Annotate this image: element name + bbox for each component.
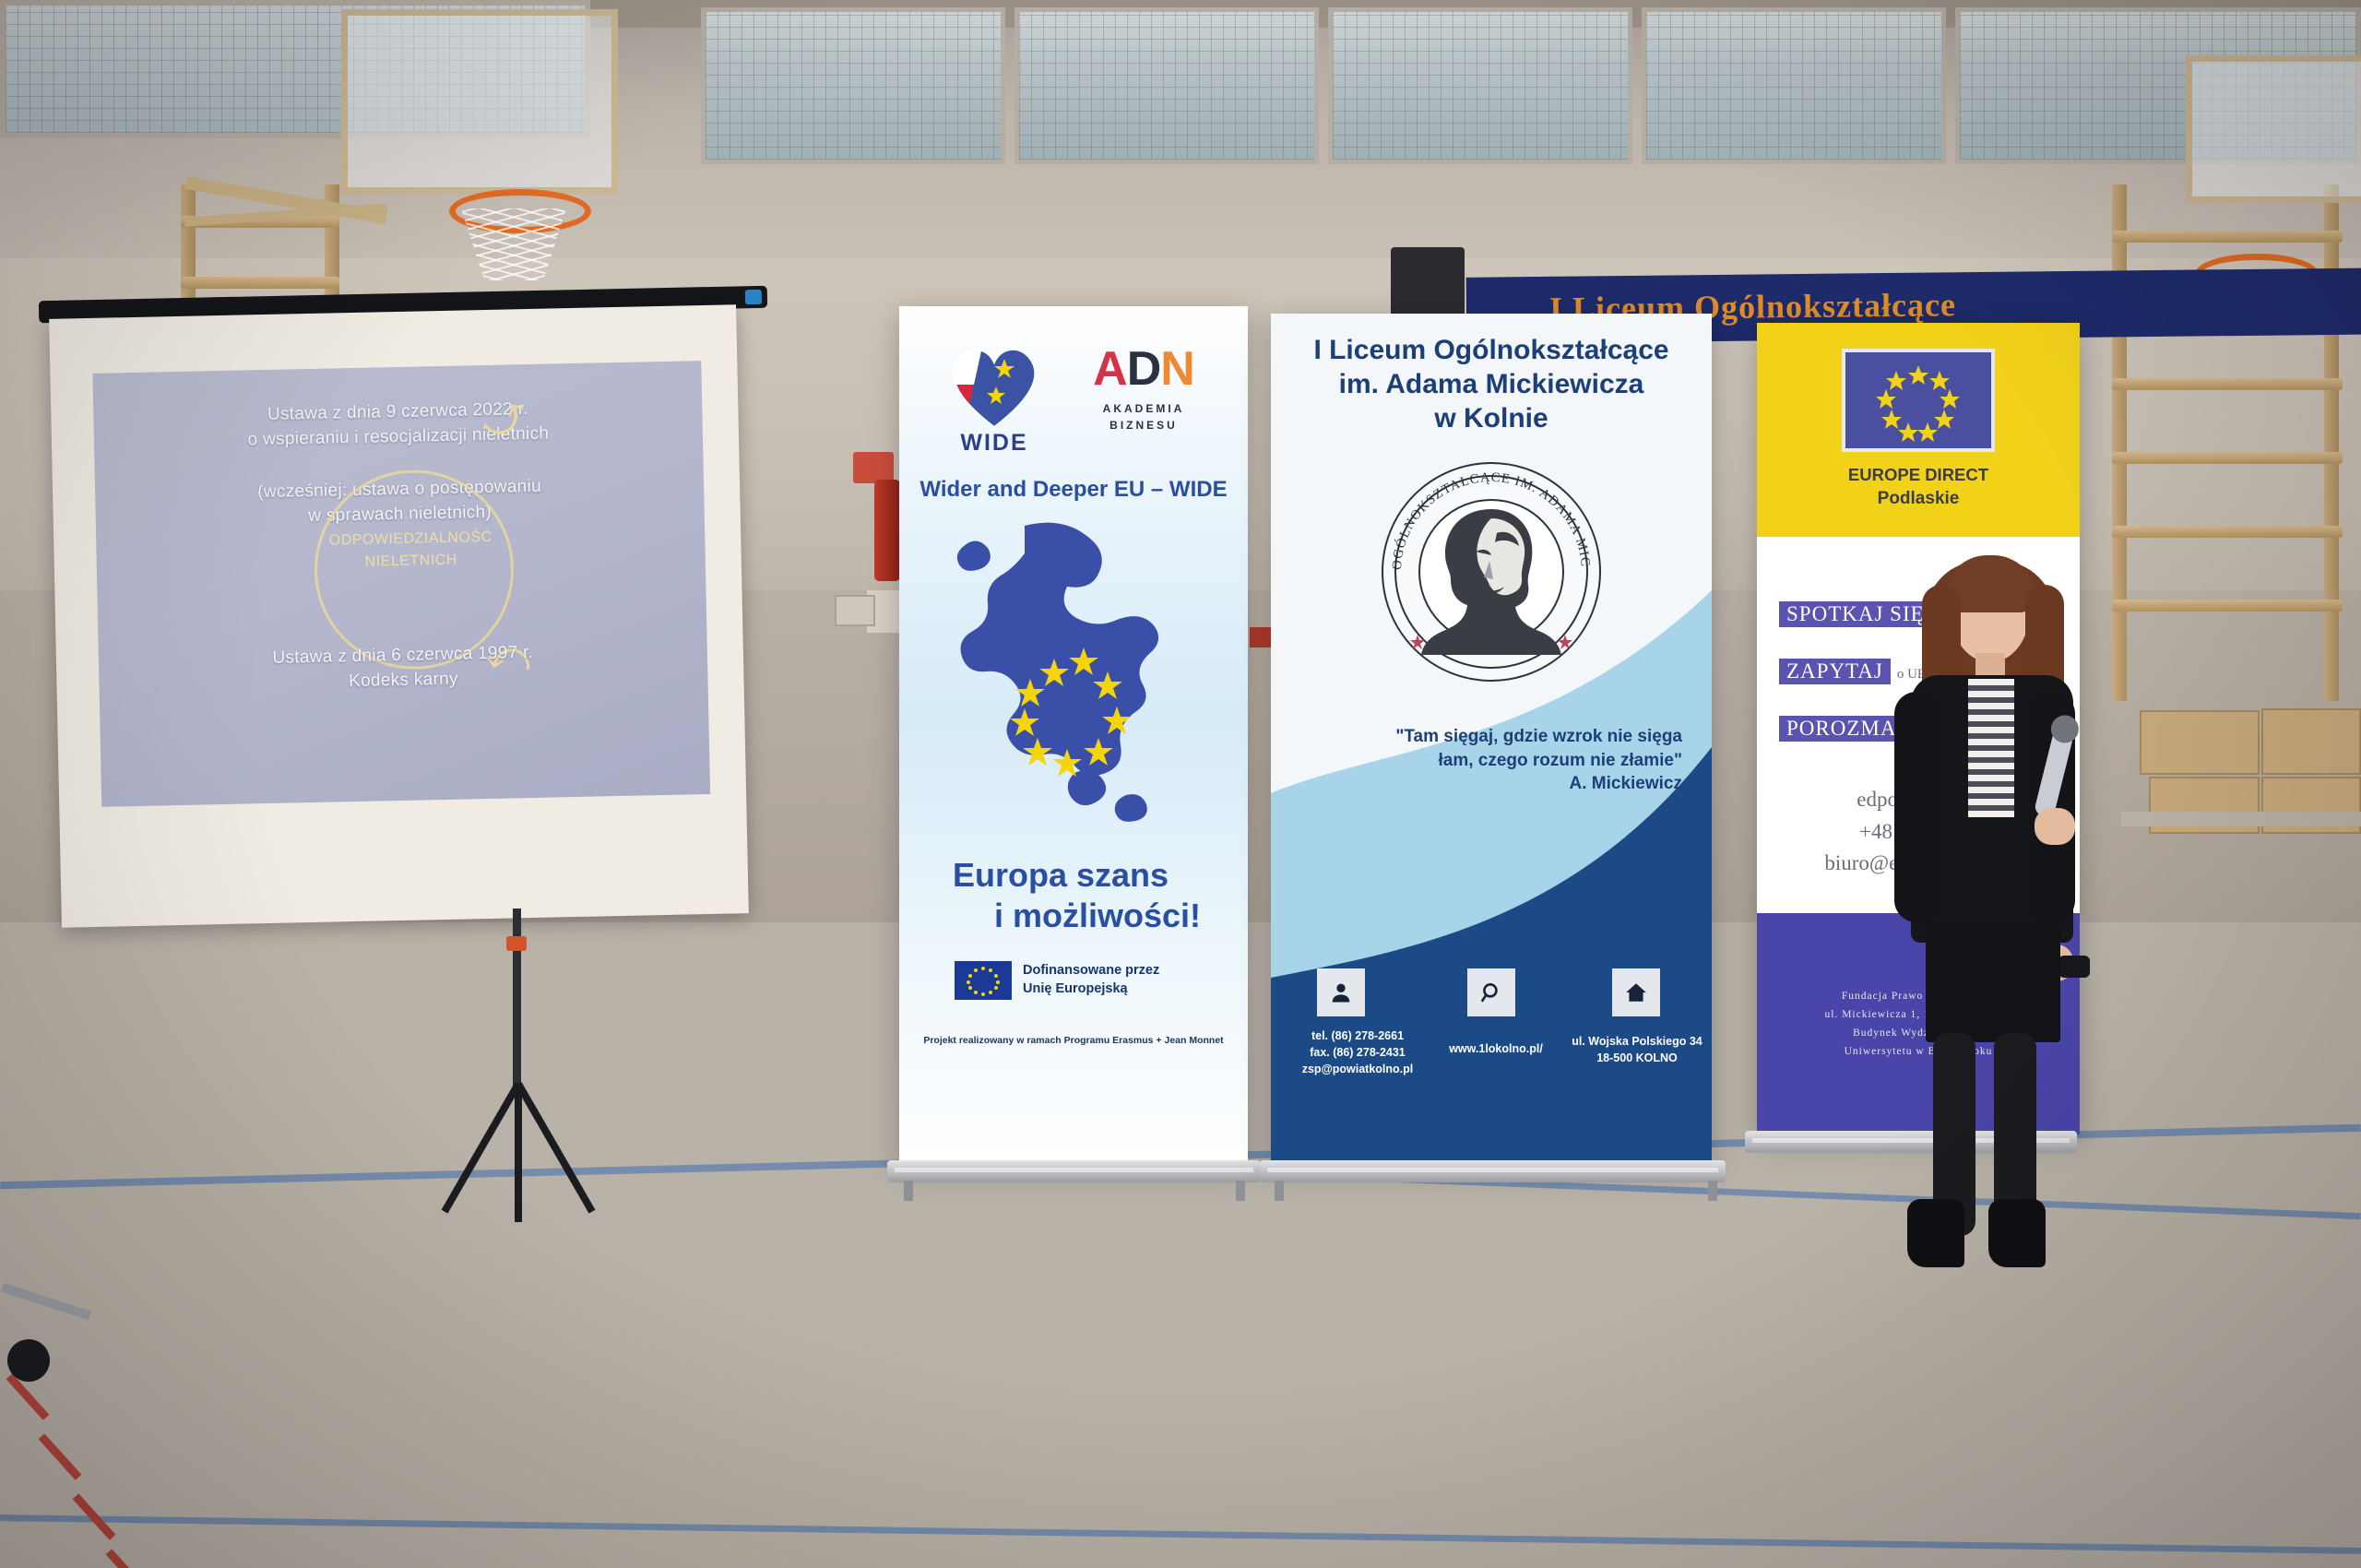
floor-cart (0, 1291, 111, 1402)
europe-map-graphic (936, 518, 1213, 846)
eu-flag-large-stars (1845, 352, 1991, 448)
search-icon (1467, 968, 1515, 1016)
projection-screen: Ustawa z dnia 9 czerwca 2022 r. o wspier… (55, 304, 742, 922)
adn-letters: ADN (1070, 345, 1217, 393)
banner-school: I Liceum Ogólnokształcące im. Adama Mick… (1271, 314, 1712, 1164)
wide-project-title: Wider and Deeper EU – WIDE (899, 477, 1248, 503)
school-quote-line2: łam, czego rozum nie złamie" (1280, 749, 1682, 773)
school-quote: "Tam sięgaj, gdzie wzrok nie sięga łam, … (1280, 725, 1704, 796)
window-mesh (706, 12, 1001, 160)
wall-bar-rung (181, 277, 339, 289)
wall-bar-rung (2112, 378, 2343, 390)
presentation-clicker[interactable] (2058, 956, 2090, 978)
tripod-knob (506, 936, 527, 951)
slide-circle-label-line1: ODPOWIEDZIALNOŚĆ (314, 527, 507, 552)
window-pane (1328, 7, 1632, 164)
adn-letter-d: D (1127, 342, 1161, 396)
tripod-leg (442, 1082, 522, 1214)
wide-slogan-line2: i możliwości! (899, 896, 1248, 936)
europe-direct-subtitle: Podlaskie (1757, 487, 2080, 512)
wide-logo-label: WIDE (927, 430, 1062, 457)
contact-line: fax. (86) 278-2431 (1284, 1044, 1431, 1061)
search-glyph (1479, 980, 1503, 1004)
home-glyph (1624, 980, 1648, 1004)
wall-bar-rung (2112, 600, 2343, 612)
europe-direct-title: EUROPE DIRECT (1757, 463, 2080, 487)
contact-line: tel. (86) 278-2661 (1284, 1028, 1431, 1044)
europe-direct-logo-text: EUROPE DIRECT Podlaskie (1757, 463, 2080, 511)
fire-extinguisher (874, 480, 900, 581)
backboard-left (341, 9, 618, 194)
screen-surface: Ustawa z dnia 9 czerwca 2022 r. o wspier… (49, 304, 749, 927)
banner-wide: WIDE ADN AKADEMIA BIZNESU Wider and Deep… (899, 306, 1248, 1164)
presenter-striped-shirt (1968, 679, 2014, 817)
cardboard-box (2140, 710, 2260, 775)
school-title-line3: w Kolnie (1271, 402, 1712, 436)
adn-sub-line1: AKADEMIA (1070, 400, 1217, 417)
home-icon (1612, 968, 1660, 1016)
window-band (701, 0, 2361, 175)
wide-heart-logo (943, 339, 1043, 431)
wall-bar-rung (2112, 526, 2343, 538)
wide-slogan: Europa szans i możliwości! (899, 855, 1248, 936)
presenter-left-arm (1894, 692, 1942, 922)
slide-bottom-text: Ustawa z dnia 6 czerwca 1997 r. Kodeks k… (99, 637, 708, 700)
window-mesh (1019, 12, 1314, 160)
banner-wide-foot (904, 1181, 913, 1201)
screen-tripod (360, 909, 673, 1213)
school-seal-icon: I LICEUM OGÓLNOKSZTAŁCĄCE IM. ADAMA MICK… (1381, 461, 1602, 683)
school-contact-phone: tel. (86) 278-2661 fax. (86) 278-2431 zs… (1284, 1028, 1431, 1077)
eu-funding-text: Dofinansowane przez Unię Europejską (1023, 962, 1159, 998)
school-contact-website: www.1lokolno.pl/ (1417, 1040, 1575, 1057)
window-mesh (1646, 12, 1941, 160)
school-contact-address: ul. Wojska Polskiego 34 18-500 KOLNO (1562, 1033, 1712, 1066)
banner-school-foot (1275, 1181, 1284, 1201)
eu-flag-large-icon (1842, 349, 1995, 452)
gymnasium-scene: I Liceum Ogólnokształcące Ustawa z dnia … (0, 0, 2361, 1568)
europe-map-icon (936, 518, 1213, 846)
cardboard-box (2261, 708, 2361, 775)
school-seal: I LICEUM OGÓLNOKSZTAŁCĄCE IM. ADAMA MICK… (1381, 461, 1602, 683)
presenter-boot-left (1907, 1199, 1964, 1267)
adn-logo: ADN AKADEMIA BIZNESU (1070, 345, 1217, 434)
wide-footer-text: Projekt realizowany w ramach Programu Er… (899, 1035, 1248, 1046)
slide-circle-label-line2: NIELETNICH (314, 549, 508, 575)
contact-line: 18-500 KOLNO (1562, 1050, 1712, 1066)
school-quote-line1: "Tam sięgaj, gdzie wzrok nie sięga (1280, 725, 1682, 749)
fire-sign (853, 452, 894, 483)
contact-line: zsp@powiatkolno.pl (1284, 1061, 1431, 1077)
adn-letter-a: A (1093, 342, 1127, 396)
window-pane (701, 7, 1005, 164)
eu-funding-block: Dofinansowane przez Unię Europejską (955, 961, 1159, 1000)
wall-speaker (1391, 247, 1465, 323)
tripod-leg (516, 1082, 596, 1214)
contact-line: ul. Wojska Polskiego 34 (1562, 1033, 1712, 1050)
school-banner-title: I Liceum Ogólnokształcące im. Adama Mick… (1271, 334, 1712, 436)
window-mesh (1333, 12, 1628, 160)
window-pane (1642, 7, 1946, 164)
person-icon (1317, 968, 1365, 1016)
school-title-line2: im. Adama Mickiewicza (1271, 368, 1712, 402)
wide-heart-icon (943, 339, 1045, 431)
banner-school-foot (1708, 1181, 1717, 1201)
wall-bar-post (2324, 184, 2339, 701)
person-glyph (1328, 980, 1354, 1005)
presenter-skirt (1926, 922, 2060, 1042)
school-title-line1: I Liceum Ogólnokształcące (1271, 334, 1712, 368)
eu-flag-icon (955, 961, 1012, 1000)
wall-bar-rung (2112, 231, 2343, 243)
backboard-right (2186, 55, 2361, 203)
window-pane (1014, 7, 1319, 164)
wall-bar-rung (2112, 452, 2343, 464)
presenter-boot-right (1988, 1199, 2046, 1267)
europe-direct-header: EUROPE DIRECT Podlaskie (1757, 323, 2080, 537)
eu-funding-line1: Dofinansowane przez (1023, 962, 1159, 980)
eu-flag-stars (955, 961, 1012, 1000)
presenter (1854, 553, 2130, 1282)
wide-slogan-line1: Europa szans (899, 855, 1248, 896)
banner-school-base (1260, 1160, 1726, 1182)
presentation-slide: Ustawa z dnia 9 czerwca 2022 r. o wspier… (92, 361, 710, 807)
shelf-edge (2121, 812, 2361, 826)
presenter-hand-with-mic (2035, 808, 2075, 845)
adn-letter-n: N (1160, 342, 1194, 396)
slide-circle-label: ODPOWIEDZIALNOŚĆ NIELETNICH (314, 527, 508, 575)
cart-wheel (7, 1339, 50, 1382)
slide-top-text: Ustawa z dnia 9 czerwca 2022 r. o wspier… (93, 394, 703, 457)
adn-sub-line2: BIZNESU (1070, 417, 1217, 434)
wall-panel (835, 595, 875, 626)
banner-wide-base (887, 1160, 1261, 1182)
eu-funding-line2: Unię Europejską (1023, 980, 1159, 999)
banner-wide-foot (1236, 1181, 1245, 1201)
school-quote-author: A. Mickiewicz (1280, 772, 1682, 796)
contact-line: www.1lokolno.pl/ (1417, 1040, 1575, 1057)
tripod-leg (515, 1084, 522, 1222)
